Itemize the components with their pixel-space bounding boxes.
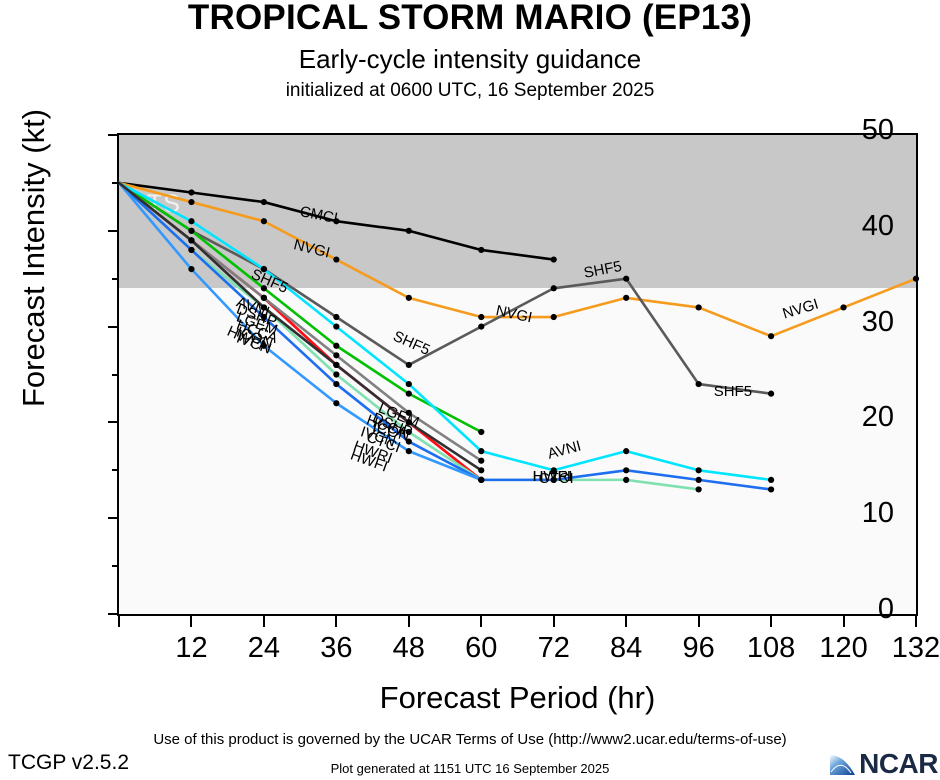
data-point [333,324,339,330]
x-tick-label: 72 [519,632,589,665]
data-point [478,458,484,464]
data-point [188,218,194,224]
y-tick-minor [112,374,119,376]
curve-shf5 [119,183,771,394]
initialization-time: initialized at 0600 UTC, 16 September 20… [0,80,940,102]
x-tick-label: 108 [736,632,806,665]
x-tick-label: 96 [664,632,734,665]
data-point [551,256,557,262]
ncar-logo: NCAR [828,748,938,780]
y-tick-major [108,326,119,328]
y-tick-label: 50 [834,114,894,147]
data-point [478,429,484,435]
data-point [696,467,702,473]
y-axis-title: Forecast Intensity (kt) [16,28,52,488]
data-point [333,381,339,387]
y-tick-minor [112,182,119,184]
data-point [406,295,412,301]
page-subtitle: Early-cycle intensity guidance [0,44,940,75]
y-tick-major [108,230,119,232]
data-point [913,276,919,282]
data-point [551,285,557,291]
data-point [478,324,484,330]
data-point [623,276,629,282]
data-point [406,362,412,368]
data-point [623,448,629,454]
data-point [478,247,484,253]
data-point [768,391,774,397]
data-point [406,381,412,387]
data-point [333,371,339,377]
data-point [696,477,702,483]
data-point [333,352,339,358]
data-point [188,237,194,243]
data-point [768,477,774,483]
data-point [406,448,412,454]
data-point [261,218,267,224]
x-tick-major [190,614,192,627]
x-tick-major [915,614,917,627]
y-tick-label: 20 [834,401,894,434]
tc-guidance-plot: TROPICAL STORM MARIO (EP13) Early-cycle … [0,0,940,780]
y-tick-label: 10 [834,497,894,530]
cluster-label-72h-ctci: CTCI [539,470,574,487]
y-tick-minor [112,278,119,280]
x-tick-major [843,614,845,627]
x-tick-label: 24 [229,632,299,665]
data-point [768,486,774,492]
x-tick-major [408,614,410,627]
data-point [333,256,339,262]
data-point [188,199,194,205]
plot-area: TS 010203040501224364860728496108120132 … [117,133,918,616]
x-tick-label: 84 [591,632,661,665]
data-point [623,467,629,473]
x-tick-major [118,614,120,627]
data-point [478,314,484,320]
data-point [623,295,629,301]
data-point [768,333,774,339]
data-point [551,314,557,320]
x-tick-label: 48 [374,632,444,665]
ncar-swoosh-icon [828,749,858,779]
x-tick-major [263,614,265,627]
ncar-logo-text: NCAR [859,750,938,778]
y-tick-major [108,421,119,423]
x-tick-label: 36 [301,632,371,665]
data-point [333,343,339,349]
data-point [696,486,702,492]
x-tick-label: 60 [446,632,516,665]
data-point [333,400,339,406]
x-tick-label: 132 [881,632,940,665]
data-point [188,189,194,195]
y-tick-major [108,134,119,136]
data-point [188,247,194,253]
page-title: TROPICAL STORM MARIO (EP13) [0,0,940,38]
y-tick-major [108,517,119,519]
y-tick-label: 40 [834,210,894,243]
x-tick-major [625,614,627,627]
data-point [333,314,339,320]
data-point [696,381,702,387]
curve-hwri [119,183,771,490]
data-point [478,477,484,483]
data-point [333,362,339,368]
data-point [188,228,194,234]
x-tick-major [698,614,700,627]
x-axis-title: Forecast Period (hr) [117,680,918,716]
forecast-curves [119,135,916,614]
y-tick-minor [112,469,119,471]
curve-label-shf5-4: SHF5 [714,383,752,400]
data-point [623,477,629,483]
data-point [696,304,702,310]
x-tick-major [335,614,337,627]
y-tick-minor [112,565,119,567]
x-tick-label: 120 [809,632,879,665]
y-tick-label: 30 [834,306,894,339]
x-tick-label: 12 [156,632,226,665]
data-point [478,467,484,473]
data-point [261,295,267,301]
data-point [406,228,412,234]
x-tick-major [553,614,555,627]
plot-generated-text: Plot generated at 1151 UTC 16 September … [0,761,940,776]
x-tick-major [480,614,482,627]
data-point [261,199,267,205]
x-tick-major [770,614,772,627]
data-point [478,448,484,454]
terms-of-use-text: Use of this product is governed by the U… [0,731,940,748]
data-point [406,391,412,397]
data-point [188,266,194,272]
